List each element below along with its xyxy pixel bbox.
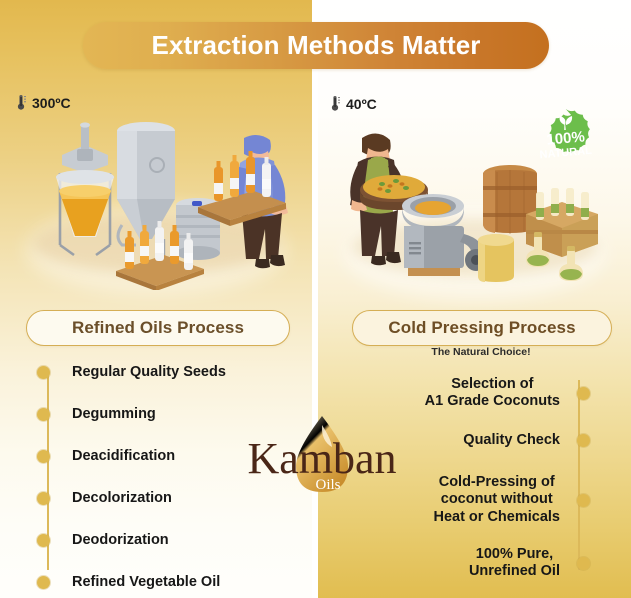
refined-step-label: Decolorization	[72, 490, 172, 507]
timeline-dot	[577, 387, 590, 400]
natural-badge: 100% NATURAL	[529, 107, 604, 169]
cold-pressing-step-list: Selection ofA1 Grade CoconutsQuality Che…	[400, 370, 590, 582]
coldpress-step-item: Cold-Pressing ofcoconut withoutHeat or C…	[400, 474, 590, 526]
timeline-dot	[37, 534, 50, 547]
timeline-dot	[37, 576, 50, 589]
timeline-dot	[37, 408, 50, 421]
refined-step-item: Deodorization	[37, 532, 302, 549]
timeline-dot	[37, 450, 50, 463]
infographic-poster: Extraction Methods Matter 300ºC 40ºC	[0, 0, 631, 598]
brand-logo: Kamban Oils	[236, 413, 408, 507]
refined-step-label: Refined Vegetable Oil	[72, 574, 220, 591]
brand-name: Kamban	[247, 434, 396, 483]
coldpress-step-label: 100% Pure,Unrefined Oil	[469, 546, 560, 581]
coldpress-step-label: Quality Check	[463, 432, 560, 449]
timeline-dot	[577, 434, 590, 447]
coldpress-step-item: Quality Check	[400, 432, 590, 449]
refined-oils-heading: Refined Oils Process	[72, 318, 244, 338]
refined-step-label: Regular Quality Seeds	[72, 364, 226, 381]
page-title: Extraction Methods Matter	[152, 30, 481, 61]
right-temperature-tag: 40ºC	[330, 95, 377, 112]
coldpress-step-item: Selection ofA1 Grade Coconuts	[400, 376, 590, 411]
timeline-dot	[37, 366, 50, 379]
cold-pressing-heading: Cold Pressing Process	[388, 318, 575, 338]
refined-step-item: Regular Quality Seeds	[37, 364, 302, 381]
timeline-dot	[577, 557, 590, 570]
brand-tagline: Oils	[315, 477, 340, 493]
refined-step-label: Deodorization	[72, 532, 169, 549]
timeline-dot	[577, 494, 590, 507]
refined-step-label: Deacidification	[72, 448, 175, 465]
coldpress-step-label: Cold-Pressing ofcoconut withoutHeat or C…	[433, 474, 560, 526]
refined-oils-heading-pill: Refined Oils Process	[26, 310, 290, 346]
cold-pressing-heading-pill: Cold Pressing Process	[352, 310, 612, 346]
coldpress-step-label: Selection ofA1 Grade Coconuts	[425, 376, 560, 411]
coldpress-step-item: 100% Pure,Unrefined Oil	[400, 546, 590, 581]
timeline-dot	[37, 492, 50, 505]
page-title-banner: Extraction Methods Matter	[83, 22, 549, 69]
refined-step-item: Refined Vegetable Oil	[37, 574, 302, 591]
cold-pressing-subtitle: The Natural Choice!	[352, 346, 610, 358]
thermometer-icon	[330, 95, 341, 112]
refinery-illustration	[18, 105, 298, 290]
refined-step-label: Degumming	[72, 406, 156, 423]
right-temperature-value: 40ºC	[346, 96, 377, 112]
